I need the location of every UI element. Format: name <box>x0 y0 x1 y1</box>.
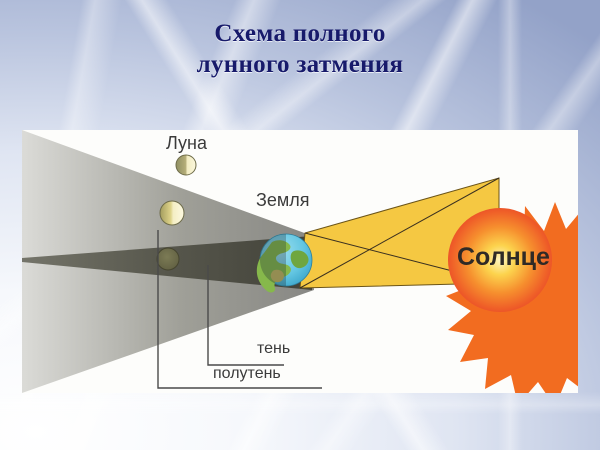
label-umbra: тень <box>257 340 290 358</box>
title-line-1: Схема полного <box>0 18 600 49</box>
label-moon: Луна <box>166 133 207 154</box>
moon-in-umbra <box>157 248 179 270</box>
moon-in-penumbra <box>160 201 184 225</box>
page-title: Схема полного лунного затмения <box>0 18 600 80</box>
diagram-panel: Луна Земля Солнце тень полутень <box>22 130 578 393</box>
label-penumbra: полутень <box>213 365 281 383</box>
label-sun: Солнце <box>457 243 550 272</box>
moon-outside-shadow <box>176 155 196 175</box>
slide-canvas: Схема полного лунного затмения <box>0 0 600 450</box>
title-line-2: лунного затмения <box>0 49 600 80</box>
label-earth: Земля <box>256 190 310 211</box>
